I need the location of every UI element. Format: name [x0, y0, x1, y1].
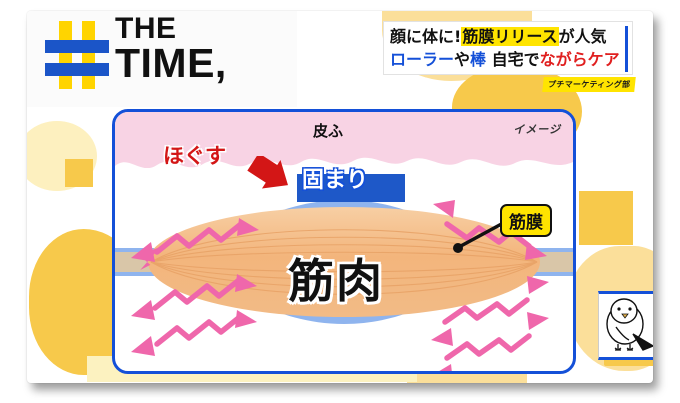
mascot-frame [598, 291, 653, 366]
headline-l2-part1: ローラー [390, 50, 454, 69]
program-title-line1: THE [115, 15, 227, 43]
decor-blob-right-circle [579, 191, 633, 245]
callout-fascia: 筋膜 [500, 204, 552, 237]
program-title-line2: TIME, [115, 45, 227, 83]
hash-logo-icon [45, 21, 109, 89]
headline-l1-highlight: 筋膜リリース [461, 27, 558, 46]
anatomy-diagram-panel: 皮ふ イメージ ほぐす 固まり 筋肉 筋膜 [112, 109, 576, 374]
loosen-red-arrow-icon [245, 156, 293, 200]
label-lump: 固まり [302, 162, 368, 194]
screenshot-stage: THE TIME, 顔に体に!筋膜リリースが人気 ローラーや棒 自宅でながらケア… [0, 0, 680, 403]
headline-banner: 顔に体に!筋膜リリースが人気 ローラーや棒 自宅でながらケア [383, 21, 633, 75]
mascot-card [598, 291, 653, 360]
program-title: THE TIME, [115, 15, 227, 82]
headline-l2-part4: 自宅で [486, 50, 540, 69]
headline-l2-part5: ながらケア [540, 50, 620, 69]
segment-tag: プチマーケティング部 [542, 77, 636, 92]
tv-broadcast-frame: THE TIME, 顔に体に!筋膜リリースが人気 ローラーや棒 自宅でながらケア… [27, 11, 653, 383]
headline-l2-part2: や [454, 50, 470, 69]
shimaenaga-bird-icon [599, 294, 653, 357]
label-muscle: 筋肉 [288, 245, 384, 311]
headline-l1-part1: 顔に体に! [390, 27, 461, 46]
headline-l2-part3: 棒 [470, 50, 486, 69]
decor-blob-left-circle [65, 159, 93, 187]
headline-line-1: 顔に体に!筋膜リリースが人気 [390, 25, 626, 48]
headline-line-2: ローラーや棒 自宅でながらケア [390, 48, 626, 71]
headline-l1-part2: が人気 [559, 27, 607, 46]
program-logo-area: THE TIME, [27, 11, 297, 107]
headline-accent-bar [625, 26, 628, 72]
